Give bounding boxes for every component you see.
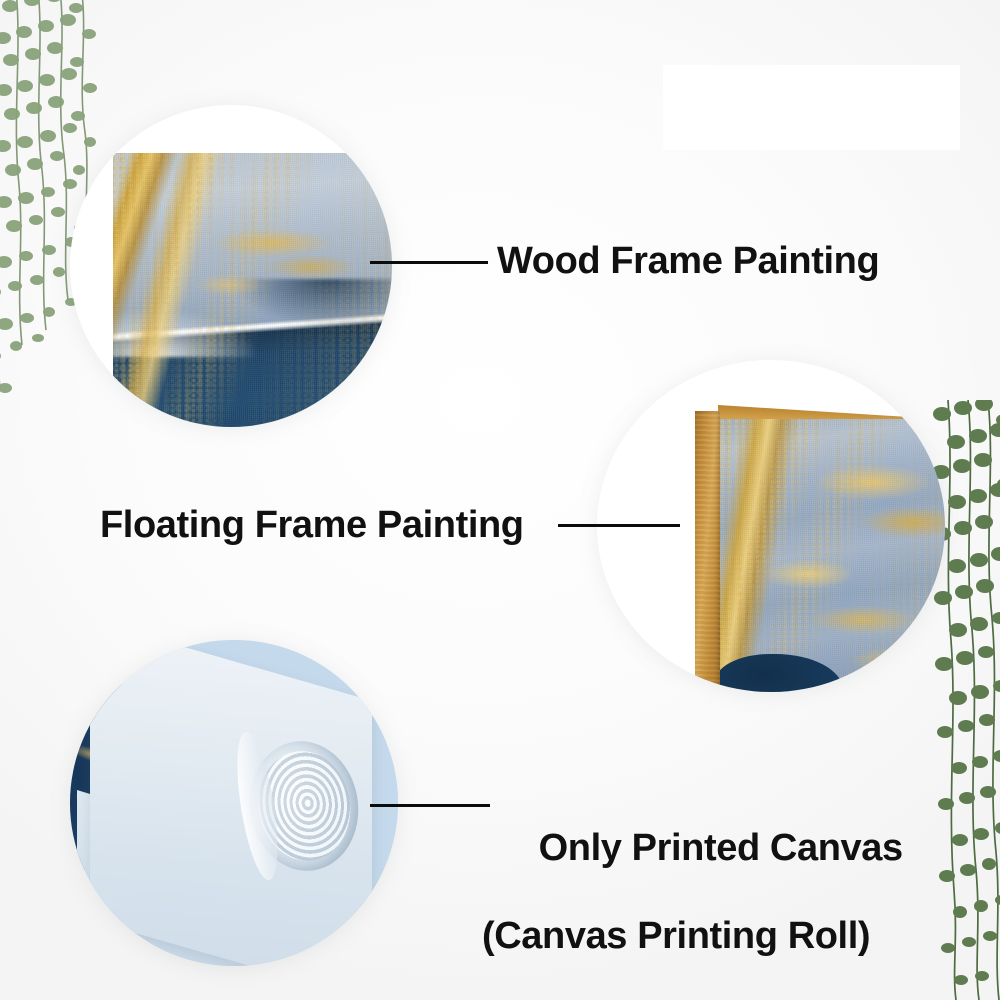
leader-line-wood-frame	[370, 261, 488, 264]
wood-frame-side-rail	[695, 411, 720, 692]
wood-frame-canvas-photo	[113, 153, 392, 427]
callout-photo-canvas-roll	[70, 640, 398, 966]
label-roll-line-1: Only Printed Canvas	[539, 827, 903, 869]
leader-line-floating-frame	[558, 524, 680, 527]
callout-photo-wood-frame	[70, 105, 392, 427]
infographic-canvas: Wood Frame Painting Floating Frame Paint…	[0, 0, 1000, 1000]
label-wood-frame-painting: Wood Frame Painting	[497, 239, 879, 283]
label-floating-frame-painting: Floating Frame Painting	[100, 503, 524, 547]
floating-frame-photo	[695, 405, 945, 692]
label-roll-line-2: (Canvas Printing Roll)	[482, 914, 903, 958]
framed-painting-face	[719, 419, 945, 692]
painting-texture	[113, 153, 392, 427]
leader-line-canvas-roll	[370, 804, 490, 807]
blank-logo-plate	[663, 65, 960, 150]
label-only-printed-canvas: Only Printed Canvas (Canvas Printing Rol…	[498, 782, 903, 1000]
